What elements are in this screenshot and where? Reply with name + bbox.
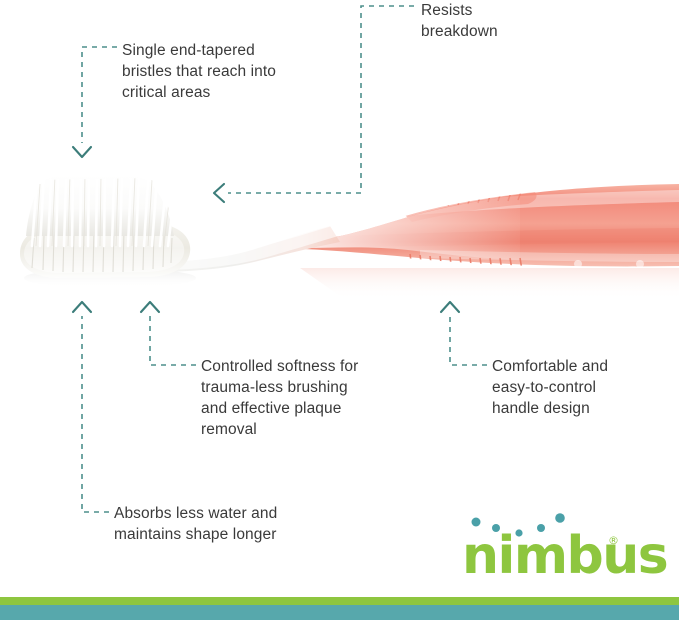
- logo-wordmark: nimbus: [462, 530, 632, 582]
- connector-softness: [150, 316, 196, 365]
- product-infographic: Single end-tapered bristles that reach i…: [0, 0, 679, 620]
- connector-absorbs: [82, 316, 109, 512]
- callout-text-absorbs: Absorbs less water and maintains shape l…: [114, 503, 344, 545]
- footer-bar-green: [0, 597, 679, 605]
- callout-text-bristles: Single end-tapered bristles that reach i…: [122, 40, 352, 103]
- logo-dot-5: [555, 513, 565, 523]
- toothbrush-illustration: [0, 150, 679, 310]
- nimbus-logo: nimbus ®: [462, 500, 632, 582]
- callout-text-handle: Comfortable and easy-to-control handle d…: [492, 356, 672, 419]
- connector-bristles: [82, 47, 117, 143]
- logo-registered-mark: ®: [608, 534, 619, 547]
- footer-bar-teal: [0, 605, 679, 620]
- callout-text-softness: Controlled softness for trauma-less brus…: [201, 356, 421, 440]
- callout-text-resists: Resists breakdown: [421, 0, 601, 42]
- connector-handle: [450, 316, 487, 365]
